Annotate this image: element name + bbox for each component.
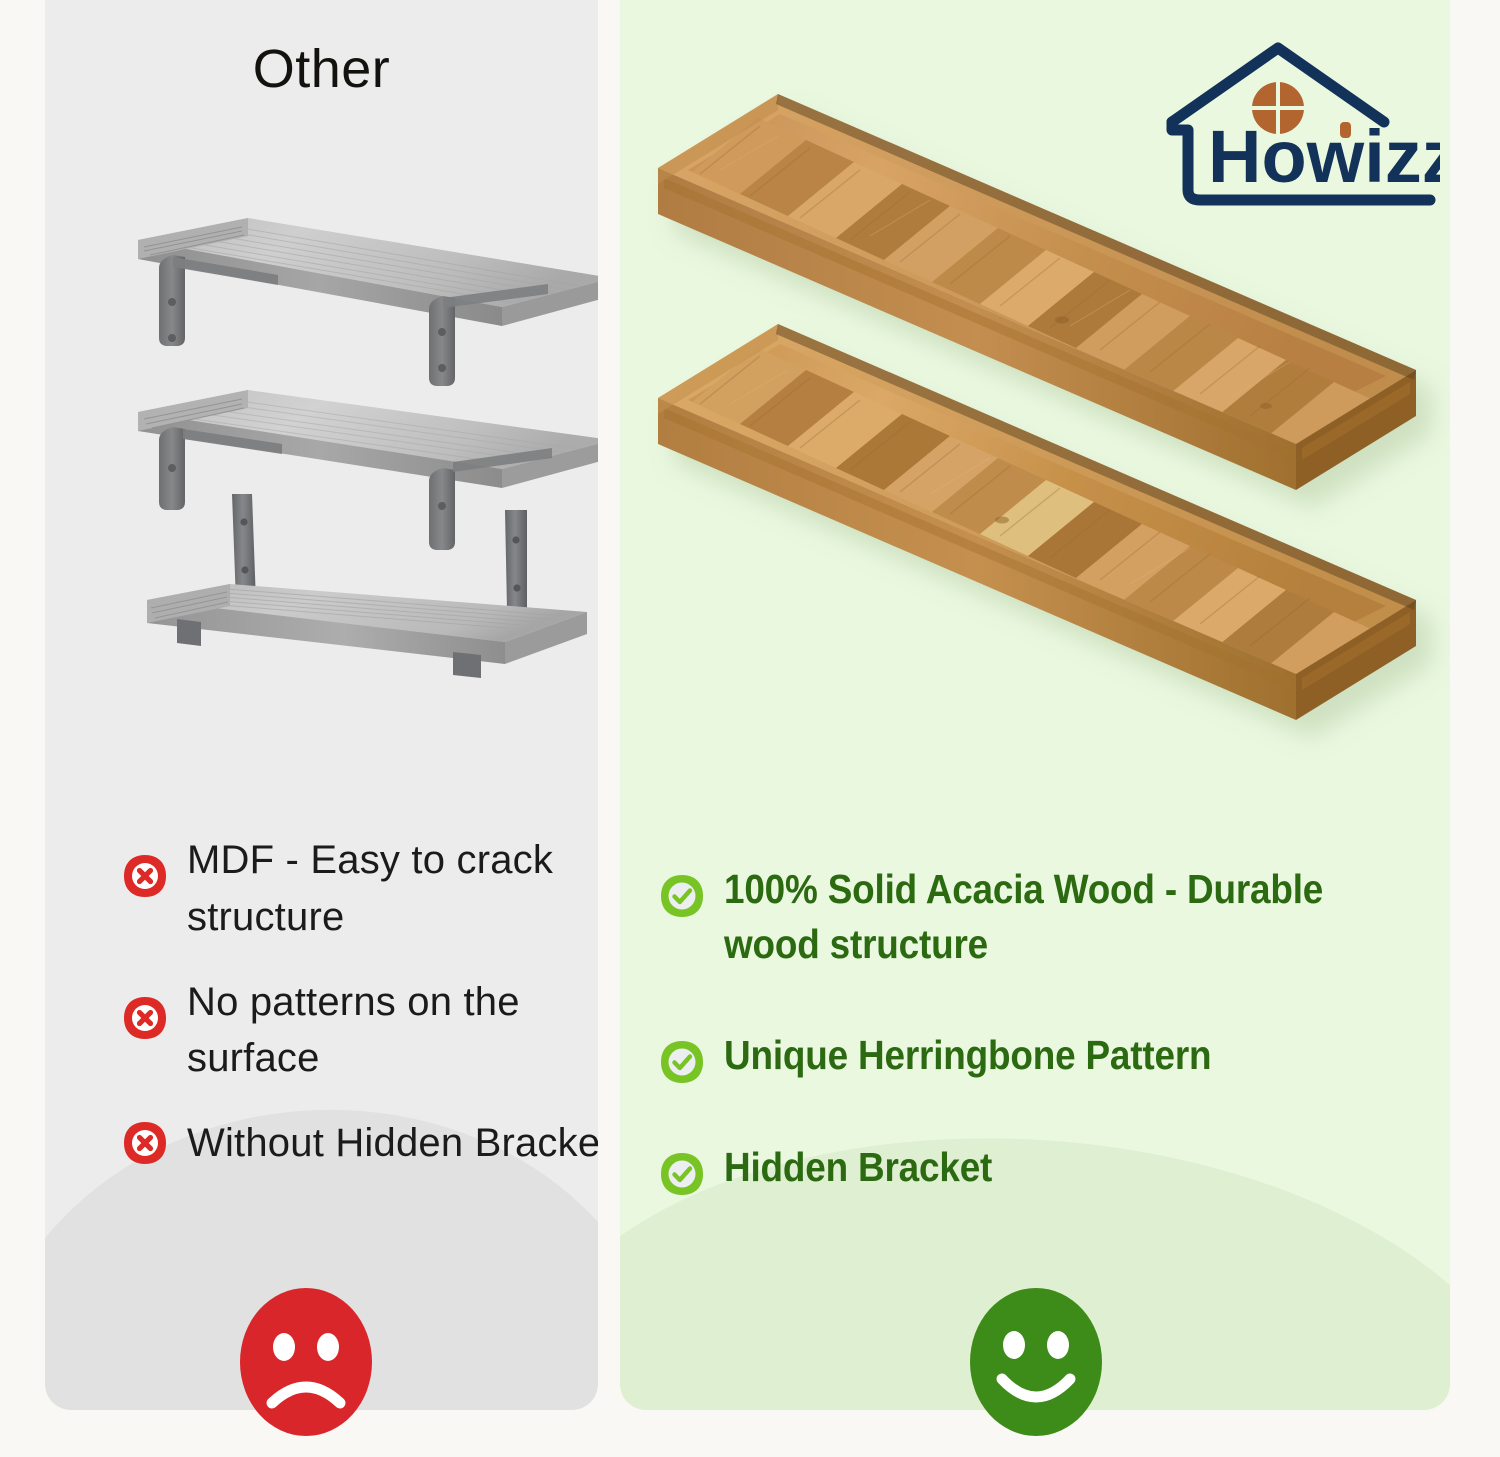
- list-item: MDF - Easy to crack structure: [123, 832, 598, 946]
- list-item: No patterns on the surface: [123, 974, 598, 1088]
- page-title-other: Other: [45, 38, 598, 100]
- sad-face-icon: [238, 1287, 374, 1437]
- list-item-label: Without Hidden Bracket: [187, 1115, 598, 1172]
- acacia-shelf-illustration-2: [630, 280, 1450, 780]
- list-item: 100% Solid Acacia Wood - Durable wood st…: [660, 862, 1430, 972]
- red-x-circle-icon: [123, 1121, 167, 1165]
- list-item-label: Hidden Bracket: [724, 1140, 992, 1195]
- benefit-list: 100% Solid Acacia Wood - Durable wood st…: [660, 862, 1430, 1252]
- mdf-shelf-illustration-3: [135, 482, 598, 682]
- list-item: Hidden Bracket: [660, 1140, 1430, 1196]
- comparison-panel-other: Other: [45, 0, 598, 1410]
- list-item-label: MDF - Easy to crack structure: [187, 832, 598, 946]
- infographic-canvas: Other: [0, 0, 1500, 1457]
- red-x-circle-icon: [123, 996, 167, 1040]
- green-check-circle-icon: [660, 874, 704, 918]
- drawback-list: MDF - Easy to crack structure No pattern…: [123, 832, 598, 1200]
- red-x-circle-icon: [123, 854, 167, 898]
- list-item: Without Hidden Bracket: [123, 1115, 598, 1172]
- green-check-circle-icon: [660, 1152, 704, 1196]
- list-item: Unique Herringbone Pattern: [660, 1028, 1430, 1084]
- happy-face-icon: [968, 1287, 1104, 1437]
- list-item-label: Unique Herringbone Pattern: [724, 1028, 1211, 1083]
- comparison-panel-howizz: Howizz: [620, 0, 1450, 1410]
- green-check-circle-icon: [660, 1040, 704, 1084]
- list-item-label: 100% Solid Acacia Wood - Durable wood st…: [724, 862, 1359, 972]
- list-item-label: No patterns on the surface: [187, 974, 598, 1088]
- mdf-shelf-illustration-1: [130, 210, 598, 370]
